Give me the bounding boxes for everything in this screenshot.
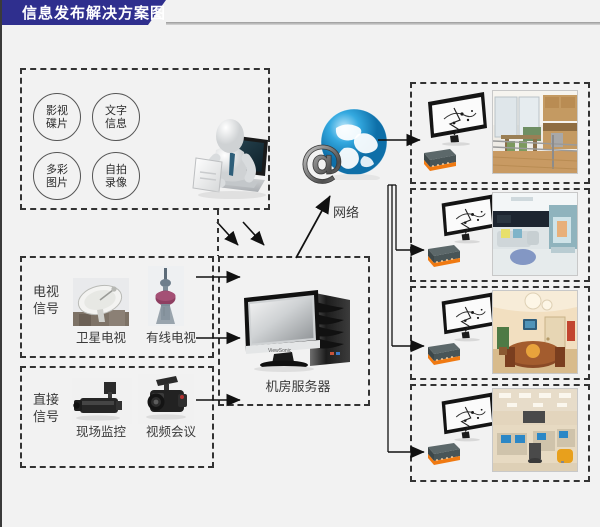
server-label: 机房服务器 [238, 380, 358, 396]
circle-line2: 图片 [46, 176, 68, 189]
modern-living-room-photo [492, 192, 578, 276]
video-camera-icon [138, 374, 194, 424]
direct-signal-label-line1: 直接 [28, 392, 64, 409]
laptop-operator-icon [172, 100, 276, 200]
page-left-rule [0, 0, 2, 527]
set-top-box-icon [422, 441, 462, 467]
circle-line1: 自拍 [105, 163, 127, 176]
circle-line2: 碟片 [46, 117, 68, 130]
flat-tv-icon [438, 194, 498, 244]
svg-text:@: @ [300, 136, 344, 187]
direct-signal-label: 直接 信号 [28, 392, 64, 426]
set-top-box-icon [418, 147, 458, 173]
header-rule [166, 22, 600, 25]
flat-tv-icon [424, 92, 490, 146]
satellite-dish-icon [73, 278, 129, 326]
circle-line1: 文字 [105, 104, 127, 117]
set-top-box-icon [422, 341, 462, 367]
cable-tv-label: 有线电视 [136, 330, 206, 346]
flat-tv-icon [438, 392, 498, 442]
tv-signal-label-line2: 信号 [28, 301, 64, 318]
tv-signal-label-line1: 电视 [28, 284, 64, 301]
satellite-tv-label: 卫星电视 [66, 330, 136, 346]
kitchen-dining-room-photo [492, 90, 578, 174]
at-sign-icon: @ [296, 136, 348, 188]
flat-tv-icon [438, 292, 498, 342]
circle-line2: 录像 [105, 176, 127, 189]
network-label: 网络 [320, 206, 372, 222]
source-circle-images: 多彩 图片 [33, 152, 81, 200]
circle-line1: 影视 [46, 104, 68, 117]
circle-line2: 信息 [105, 117, 127, 130]
tv-tower-icon [148, 266, 184, 326]
surveillance-label: 现场监控 [66, 424, 136, 440]
direct-signal-label-line2: 信号 [28, 409, 64, 426]
video-conference-label: 视频会议 [136, 424, 206, 440]
set-top-box-icon [422, 243, 462, 269]
source-circle-text: 文字 信息 [92, 93, 140, 141]
classic-dining-room-photo [492, 290, 578, 374]
circle-line1: 多彩 [46, 163, 68, 176]
source-circle-selfvideo: 自拍 录像 [92, 152, 140, 200]
server-icon: ViewSonic [238, 286, 358, 372]
office-workstations-photo [492, 388, 578, 472]
diagram-canvas: 信息发布解决方案图 影视 碟片 文字 信息 多彩 图片 自拍 录像 [0, 0, 600, 527]
page-title: 信息发布解决方案图 [22, 3, 166, 23]
tv-signal-label: 电视 信号 [28, 284, 64, 318]
surveillance-camera-icon [72, 378, 132, 424]
source-circle-video: 影视 碟片 [33, 93, 81, 141]
